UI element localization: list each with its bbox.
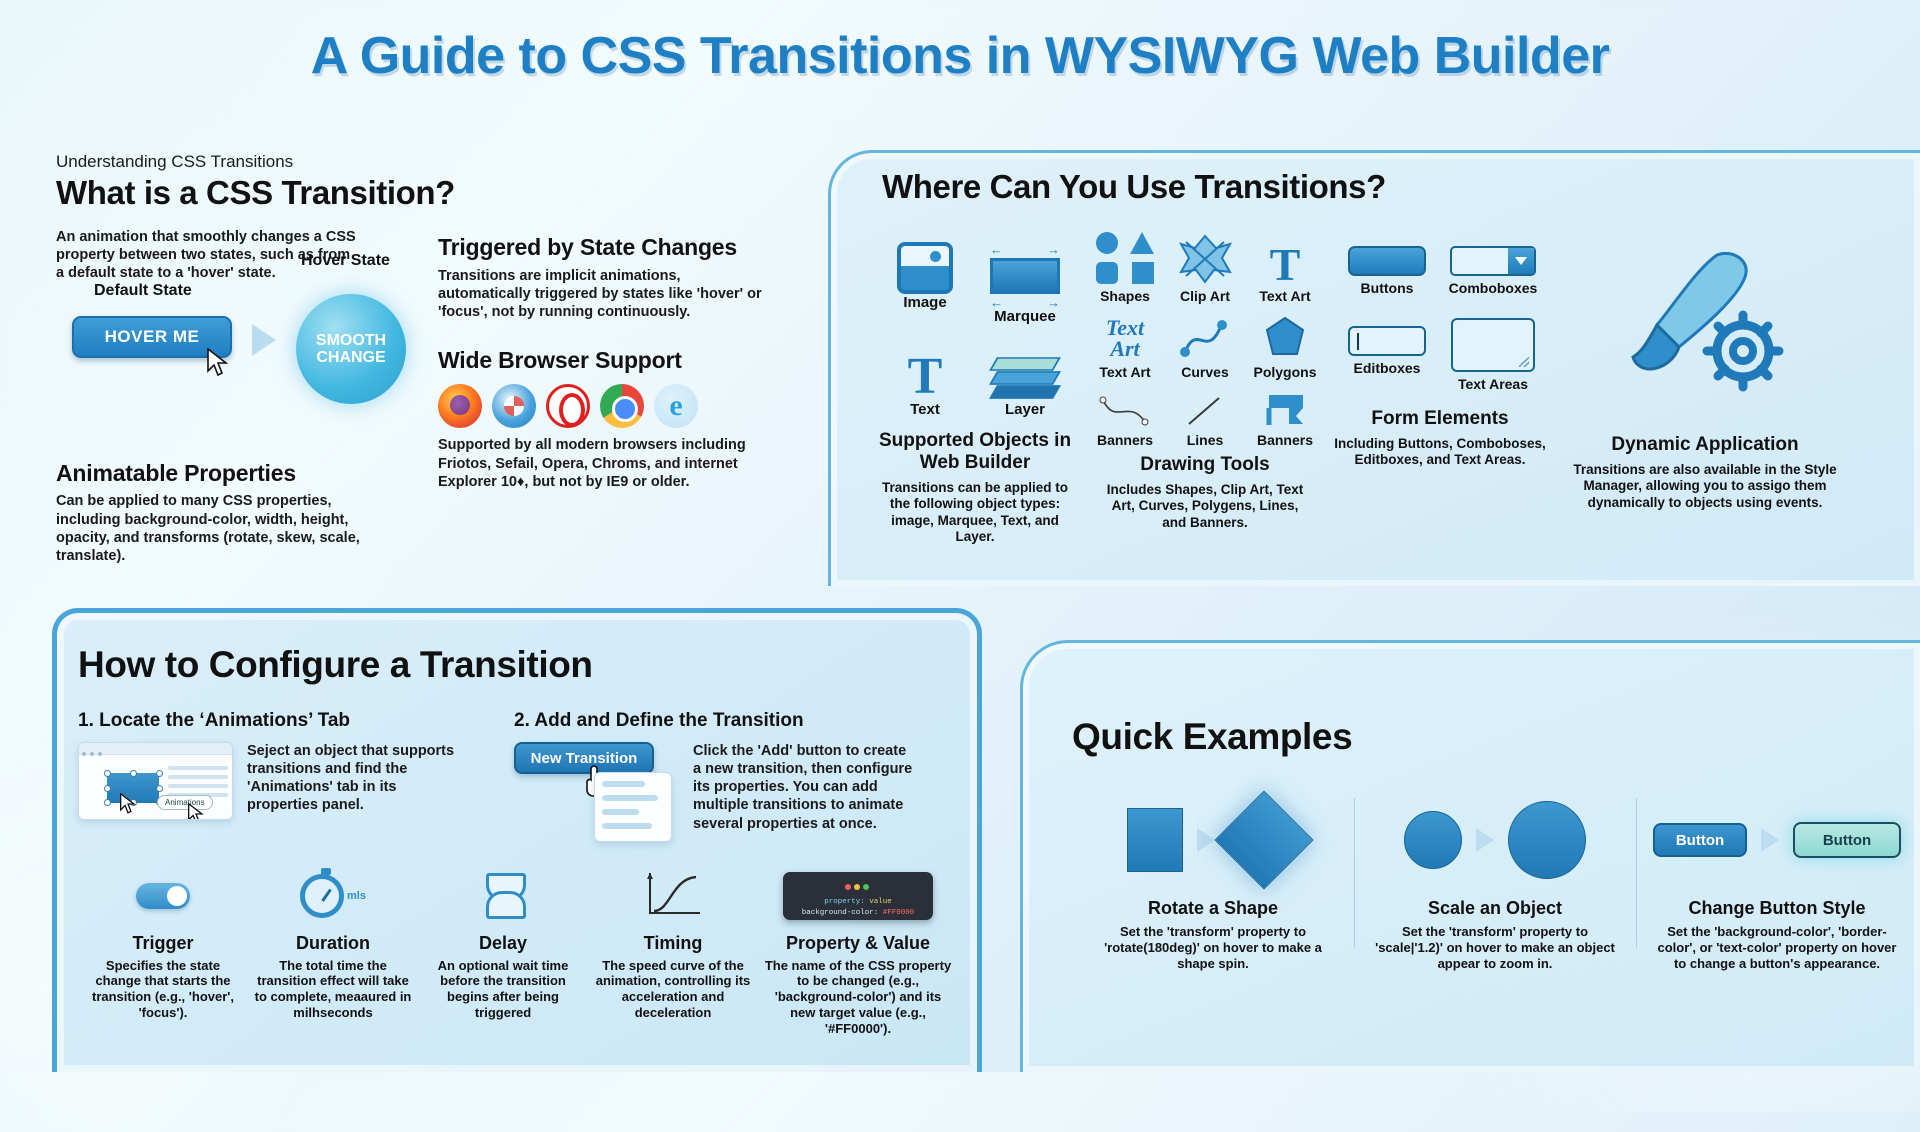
clipart-icon (1178, 234, 1232, 284)
icon-cell-textareas[interactable]: Text Areas (1447, 312, 1539, 392)
text-icon: T (908, 354, 943, 401)
section-heading: What is a CSS Transition? (56, 174, 816, 212)
marquee-icon (990, 258, 1060, 294)
section-b-heading: Where Can You Use Transitions? (882, 168, 1920, 206)
prop-name: Trigger (78, 933, 248, 954)
prop-name: Timing (588, 933, 758, 954)
column-desc: Including Buttons, Comboboses, Editboxes… (1320, 436, 1560, 469)
icon-cell-text-art-big[interactable]: T Text Art (1252, 232, 1318, 304)
prop-delay: Delay An optional wait time before the t… (418, 867, 588, 1037)
icon-label: Buttons (1341, 280, 1433, 296)
polygon-icon (1263, 316, 1307, 360)
page-title: A Guide to CSS Transitions in WYSIWYG We… (0, 26, 1920, 86)
arrow-right-icon (1761, 828, 1779, 852)
internet-explorer-icon (654, 384, 698, 428)
cursor-pointer-icon (119, 793, 137, 815)
editbox-icon (1348, 326, 1426, 356)
section-eyebrow: Understanding CSS Transitions (56, 152, 816, 172)
prop-timing: Timing The speed curve of the animation,… (588, 867, 758, 1037)
icon-label: Comboboxes (1447, 280, 1539, 296)
icon-cell-editboxes[interactable]: Editboxes (1341, 312, 1433, 392)
properties-panel-mockup[interactable]: Animations (78, 742, 233, 820)
icon-label: Text Art (1092, 364, 1158, 380)
code-snippet-icon: property: value background-color: #FF000… (783, 872, 933, 920)
icon-label: Text Areas (1447, 376, 1539, 392)
arrow-right-icon (1476, 828, 1494, 852)
section-quick-examples: Quick Examples Rotate a Shape Set the 't… (1072, 716, 1920, 972)
icon-label: Editboxes (1341, 360, 1433, 376)
layer-icon (993, 355, 1057, 401)
icon-label: Banners (1092, 432, 1158, 448)
textart-icon: TextArt (1106, 318, 1144, 360)
arrow-right-icon (1197, 828, 1215, 852)
icon-cell-text[interactable]: T Text (886, 339, 964, 418)
titlebar (79, 743, 232, 755)
paintbrush-gear-icon (1605, 247, 1805, 407)
shapes-icon (1096, 232, 1154, 284)
triggered-desc: Transitions are implicit animations, aut… (438, 267, 768, 321)
example-visual: Button Button (1636, 792, 1918, 888)
icon-label: Clip Art (1172, 288, 1238, 304)
duration-unit-badge: mls (347, 890, 366, 902)
hover-state-label: Hover State (301, 252, 390, 270)
button-icon (1348, 246, 1426, 276)
prop-name: Delay (418, 933, 588, 954)
example-rotate-a-shape: Rotate a Shape Set the 'transform' prope… (1072, 792, 1354, 972)
line-icon (1185, 394, 1225, 428)
section-where-can-you-use: Where Can You Use Transitions? Image ←→ … (860, 168, 1920, 546)
icon-label: Curves (1172, 364, 1238, 380)
column-title: Form Elements (1320, 408, 1560, 430)
example-desc: Set the 'transform' property to 'scale|'… (1354, 924, 1636, 972)
curves-icon (1179, 316, 1231, 360)
example-desc: Set the 'transform' property to 'rotate(… (1072, 924, 1354, 972)
chevron-down-icon (1508, 248, 1534, 274)
example-change-button-style: Button Button Change Button Style Set th… (1636, 792, 1918, 972)
triggered-title: Triggered by State Changes (438, 234, 768, 261)
code-line-2-key: background-color: (802, 909, 879, 917)
icon-cell-image[interactable]: Image (886, 232, 964, 325)
icon-label: Lines (1172, 432, 1238, 448)
example-name: Change Button Style (1636, 898, 1918, 919)
stopwatch-icon (300, 874, 344, 918)
column-title: Drawing Tools (1090, 454, 1320, 476)
icon-label: Polygons (1252, 364, 1318, 380)
text-art-big-t-icon: T (1270, 245, 1301, 284)
diamond-shape (1215, 791, 1314, 890)
step-1: 1. Locate the ‘Animations’ Tab Animation… (78, 710, 488, 833)
banner-curve-icon (1099, 394, 1151, 428)
combobox-icon (1450, 246, 1536, 276)
prop-desc: An optional wait time before the transit… (418, 958, 588, 1021)
icon-label: Banners (1252, 432, 1318, 448)
icon-cell-clipart[interactable]: Clip Art (1172, 232, 1238, 304)
cursor-pointer-icon (206, 348, 230, 378)
prop-duration: mls Duration The total time the transiti… (248, 867, 418, 1037)
hourglass-icon (486, 873, 520, 919)
icon-cell-textart[interactable]: TextArt Text Art (1092, 310, 1158, 380)
icon-label: Layer (986, 401, 1064, 418)
icon-cell-marquee[interactable]: ←→ ←→ Marquee (986, 232, 1064, 325)
icon-cell-banners-flag[interactable]: Banners (1252, 386, 1318, 448)
transition-list-panel[interactable] (594, 772, 672, 842)
prop-desc: The speed curve of the animation, contro… (588, 958, 758, 1021)
example-visual (1354, 792, 1636, 888)
icon-cell-shapes[interactable]: Shapes (1092, 232, 1158, 304)
code-line-2-value: #FF0000 (883, 909, 915, 917)
step-2: 2. Add and Define the Transition New Tra… (514, 710, 924, 833)
default-state-label: Default State (94, 282, 192, 300)
prop-desc: The total time the transition effect wil… (248, 958, 418, 1021)
arrow-right-icon (252, 324, 276, 356)
safari-icon (492, 384, 536, 428)
animatable-properties-desc: Can be applied to many CSS properties, i… (56, 492, 386, 565)
image-icon (897, 242, 953, 294)
column-desc: Transitions are also available in the St… (1560, 462, 1850, 511)
button-default-state[interactable]: Button (1653, 823, 1747, 857)
button-hover-state[interactable]: Button (1793, 822, 1901, 858)
browser-support-title: Wide Browser Support (438, 347, 768, 374)
prop-trigger: Trigger Specifies the state change that … (78, 867, 248, 1037)
large-circle-shape (1508, 801, 1586, 879)
small-circle-shape (1404, 811, 1462, 869)
step-1-title: 1. Locate the ‘Animations’ Tab (78, 710, 488, 732)
column-form-elements: Buttons Comboboxes Edit (1320, 232, 1560, 546)
animatable-properties-title: Animatable Properties (56, 460, 416, 487)
example-scale-an-object: Scale an Object Set the 'transform' prop… (1354, 792, 1636, 972)
prop-name: Property & Value (758, 933, 958, 954)
icon-label: Marquee (986, 308, 1064, 325)
icon-label: Image (886, 294, 964, 311)
icon-cell-comboboxes[interactable]: Comboboxes (1447, 232, 1539, 296)
column-dynamic-application: Dynamic Application Transitions are also… (1560, 232, 1850, 546)
icon-cell-polygons[interactable]: Polygons (1252, 310, 1318, 380)
section-d-heading: Quick Examples (1072, 716, 1920, 758)
prop-property-value: property: value background-color: #FF000… (758, 867, 958, 1037)
icon-cell-lines[interactable]: Lines (1172, 386, 1238, 448)
icon-cell-buttons[interactable]: Buttons (1341, 232, 1433, 296)
marquee-arrows-bottom-icon: ←→ (990, 295, 1060, 310)
column-title: Supported Objects in Web Builder (860, 430, 1090, 474)
column-desc: Includes Shapes, Clip Art, Text Art, Cur… (1090, 482, 1320, 531)
code-line-1-key: property: (824, 898, 865, 906)
column-title: Dynamic Application (1560, 434, 1850, 456)
step-1-desc: Seject an object that supports transitio… (247, 742, 462, 820)
firefox-icon (438, 384, 482, 428)
icon-cell-banners-curve[interactable]: Banners (1092, 386, 1158, 448)
textarea-icon (1451, 318, 1535, 372)
easing-curve-icon (644, 869, 702, 922)
square-shape (1127, 808, 1183, 872)
cursor-pointer-icon-2 (187, 803, 205, 820)
column-desc: Transitions can be applied to the follow… (860, 480, 1090, 546)
icon-label: Text (886, 401, 964, 418)
icon-label: Text Art (1252, 288, 1318, 304)
opera-icon (546, 384, 590, 428)
prop-desc: Specifies the state change that starts t… (78, 958, 248, 1021)
prop-name: Duration (248, 933, 418, 954)
column-supported-objects: Image ←→ ←→ Marquee T Text (860, 232, 1090, 546)
icon-cell-curves[interactable]: Curves (1172, 310, 1238, 380)
toggle-icon[interactable] (136, 883, 190, 909)
marquee-arrows-icon: ←→ (990, 242, 1060, 257)
smooth-change-circle: SMOOTH CHANGE (296, 294, 406, 404)
column-drawing-tools: Shapes Clip Art T Text Art T (1090, 232, 1320, 546)
code-line-1-value: value (869, 898, 892, 906)
icon-label: Shapes (1092, 288, 1158, 304)
example-desc: Set the 'background-color', 'border-colo… (1636, 924, 1918, 972)
state-demo: Default State Hover State HOVER ME SMOOT… (56, 294, 416, 404)
section-c-heading: How to Configure a Transition (78, 644, 958, 686)
banner-flag-icon (1263, 392, 1307, 428)
chrome-icon (600, 384, 644, 428)
section-how-to-configure: How to Configure a Transition 1. Locate … (78, 644, 958, 1037)
window-dots (790, 877, 926, 895)
section-what-is-a-css-transition: Understanding CSS Transitions What is a … (56, 152, 816, 565)
example-name: Scale an Object (1354, 898, 1636, 919)
step-2-title: 2. Add and Define the Transition (514, 710, 924, 732)
example-name: Rotate a Shape (1072, 898, 1354, 919)
prop-desc: The name of the CSS property to be chang… (758, 958, 958, 1037)
browser-icon-row (438, 384, 768, 428)
example-visual (1072, 792, 1354, 888)
browser-support-desc: Supported by all modern browsers includi… (438, 436, 768, 490)
step-2-desc: Click the 'Add' button to create a new t… (693, 742, 918, 833)
icon-cell-layer[interactable]: Layer (986, 339, 1064, 418)
